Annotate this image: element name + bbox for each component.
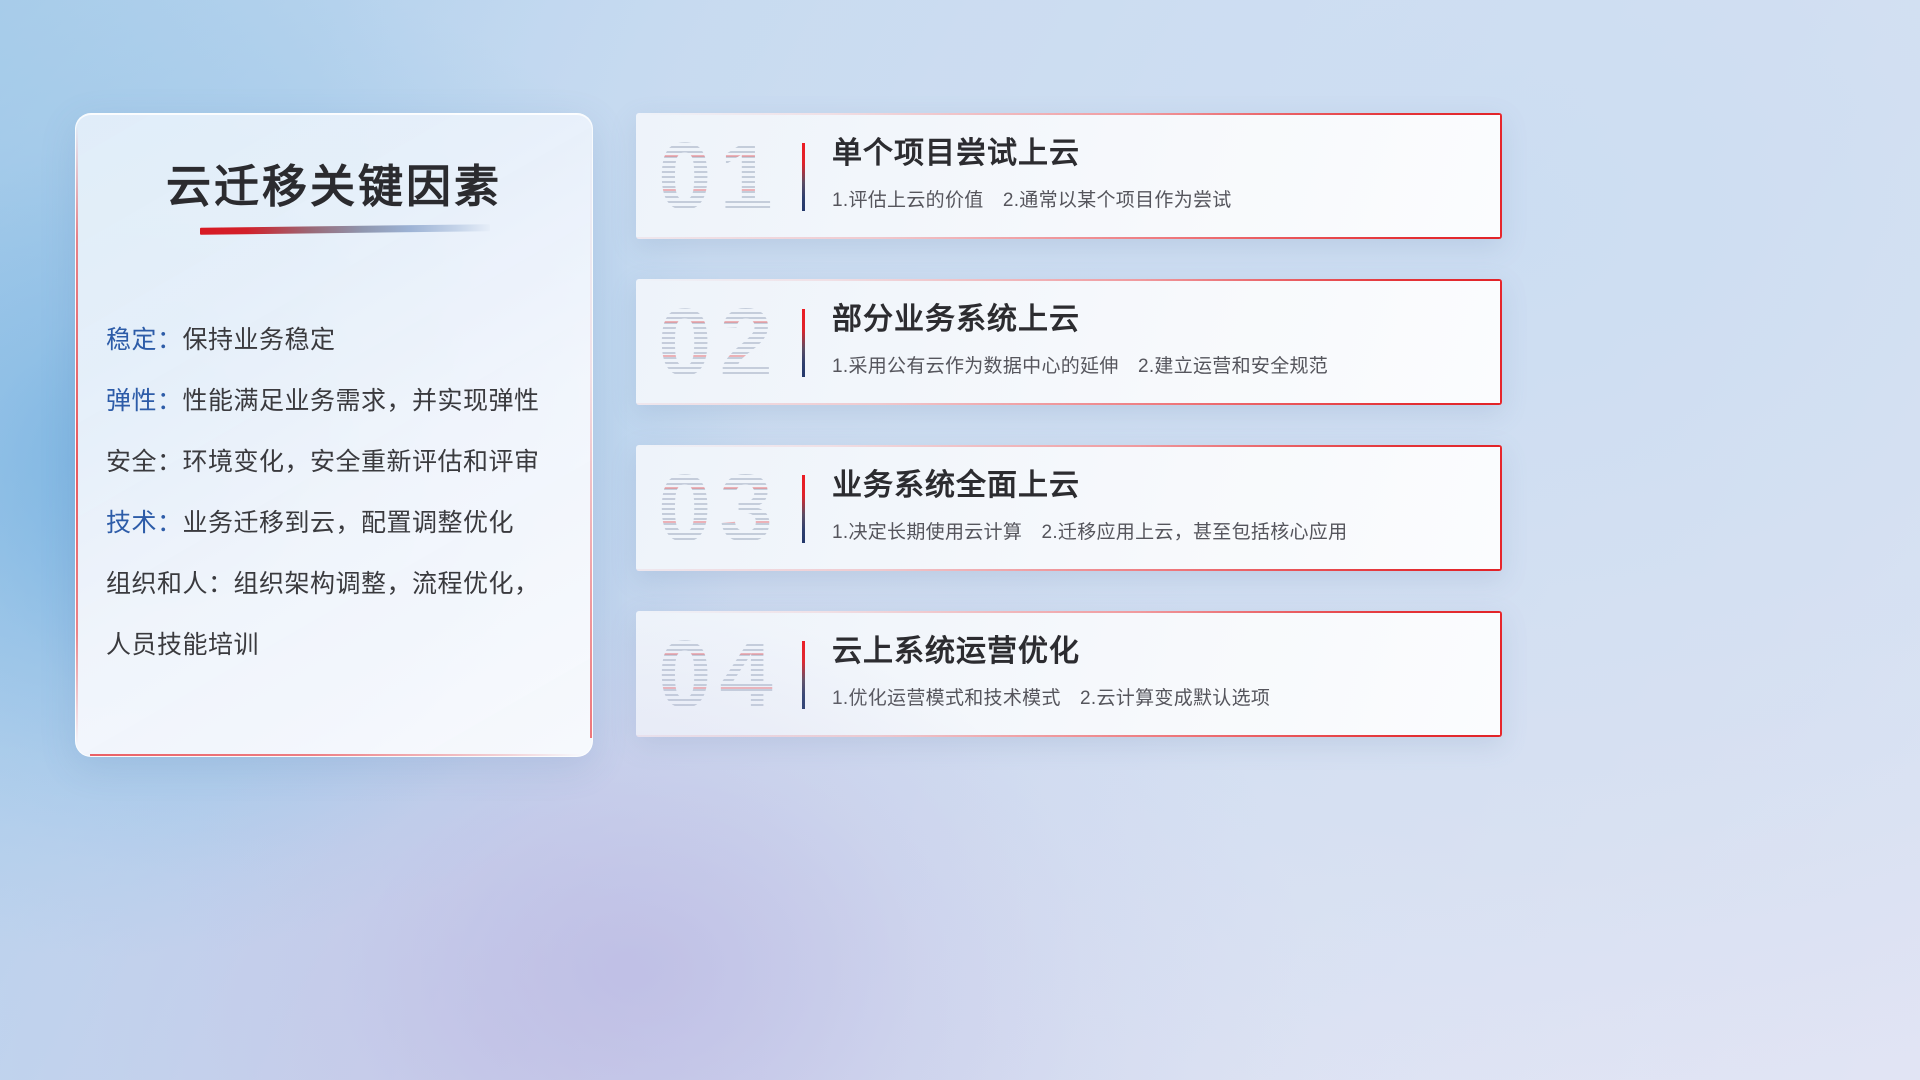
step-subtitle: 1.决定长期使用云计算 2.迁移应用上云，甚至包括核心应用 <box>832 517 1478 544</box>
factor-list: 稳定：保持业务稳定 弹性：性能满足业务需求，并实现弹性 安全：环境变化，安全重新… <box>106 310 570 676</box>
card-top-accent <box>636 113 1502 115</box>
card-right-accent <box>1500 445 1502 571</box>
migration-steps-list: 01 单个项目尝试上云 1.评估上云的价值 2.通常以某个项目作为尝试 02 部… <box>636 113 1502 777</box>
card-right-accent <box>1500 113 1502 239</box>
step-divider-bar <box>802 641 805 709</box>
step-subtitle: 1.优化运营模式和技术模式 2.云计算变成默认选项 <box>832 683 1478 710</box>
step-title: 业务系统全面上云 <box>832 465 1478 507</box>
factor-value: 保持业务稳定 <box>183 326 336 354</box>
step-text-block: 部分业务系统上云 1.采用公有云作为数据中心的延伸 2.建立运营和安全规范 <box>832 299 1478 378</box>
step-card-01[interactable]: 01 单个项目尝试上云 1.评估上云的价值 2.通常以某个项目作为尝试 <box>636 113 1502 239</box>
step-card-03[interactable]: 03 业务系统全面上云 1.决定长期使用云计算 2.迁移应用上云，甚至包括核心应… <box>636 445 1502 571</box>
card-left-accent <box>76 126 78 744</box>
step-card-04[interactable]: 04 云上系统运营优化 1.优化运营模式和技术模式 2.云计算变成默认选项 <box>636 611 1502 737</box>
factor-row: 稳定：保持业务稳定 <box>106 310 570 371</box>
step-text-block: 业务系统全面上云 1.决定长期使用云计算 2.迁移应用上云，甚至包括核心应用 <box>832 465 1478 544</box>
factor-value: 业务迁移到云，配置调整优化 <box>183 509 515 537</box>
step-title: 云上系统运营优化 <box>832 631 1478 673</box>
step-title: 单个项目尝试上云 <box>832 133 1478 175</box>
card-bottom-accent <box>636 735 1502 737</box>
step-subtitle: 1.采用公有云作为数据中心的延伸 2.建立运营和安全规范 <box>832 351 1478 378</box>
key-factors-card: 云迁移关键因素 稳定：保持业务稳定 弹性：性能满足业务需求，并实现弹性 安全：环… <box>75 113 593 757</box>
step-title: 部分业务系统上云 <box>832 299 1478 341</box>
title-underline-gradient <box>200 224 490 235</box>
card-bottom-accent <box>636 237 1502 239</box>
factor-label: 组织和人： <box>106 570 234 598</box>
factor-label: 稳定： <box>106 326 183 354</box>
step-divider-bar <box>802 309 805 377</box>
card-top-accent <box>636 279 1502 281</box>
step-divider-bar <box>802 143 805 211</box>
factor-label: 技术： <box>106 509 183 537</box>
step-text-block: 云上系统运营优化 1.优化运营模式和技术模式 2.云计算变成默认选项 <box>832 631 1478 710</box>
step-card-02[interactable]: 02 部分业务系统上云 1.采用公有云作为数据中心的延伸 2.建立运营和安全规范 <box>636 279 1502 405</box>
factor-row: 技术：业务迁移到云，配置调整优化 <box>106 493 570 554</box>
card-top-accent <box>636 611 1502 613</box>
card-bottom-accent <box>90 754 582 756</box>
factor-value: 组织架构调整，流程优化， <box>234 570 540 598</box>
factor-value: 性能满足业务需求，并实现弹性 <box>183 387 540 415</box>
factor-label: 弹性： <box>106 387 183 415</box>
factor-row: 组织和人：组织架构调整，流程优化， <box>106 554 570 615</box>
factor-value: 人员技能培训 <box>106 631 259 659</box>
card-right-accent <box>1500 279 1502 405</box>
card-bottom-accent <box>636 569 1502 571</box>
factor-value: 环境变化，安全重新评估和评审 <box>183 448 540 476</box>
step-subtitle: 1.评估上云的价值 2.通常以某个项目作为尝试 <box>832 185 1478 212</box>
page-title: 云迁移关键因素 <box>76 150 592 215</box>
card-bottom-accent <box>636 403 1502 405</box>
factor-row: 安全：环境变化，安全重新评估和评审 <box>106 432 570 493</box>
card-right-accent <box>1500 611 1502 737</box>
step-divider-bar <box>802 475 805 543</box>
factor-row: 弹性：性能满足业务需求，并实现弹性 <box>106 371 570 432</box>
slide-canvas: 云迁移关键因素 稳定：保持业务稳定 弹性：性能满足业务需求，并实现弹性 安全：环… <box>0 0 1920 1080</box>
factor-row-continued: 人员技能培训 <box>106 615 570 676</box>
card-top-accent <box>636 445 1502 447</box>
step-text-block: 单个项目尝试上云 1.评估上云的价值 2.通常以某个项目作为尝试 <box>832 133 1478 212</box>
factor-label: 安全： <box>106 448 183 476</box>
card-right-accent <box>590 130 592 738</box>
